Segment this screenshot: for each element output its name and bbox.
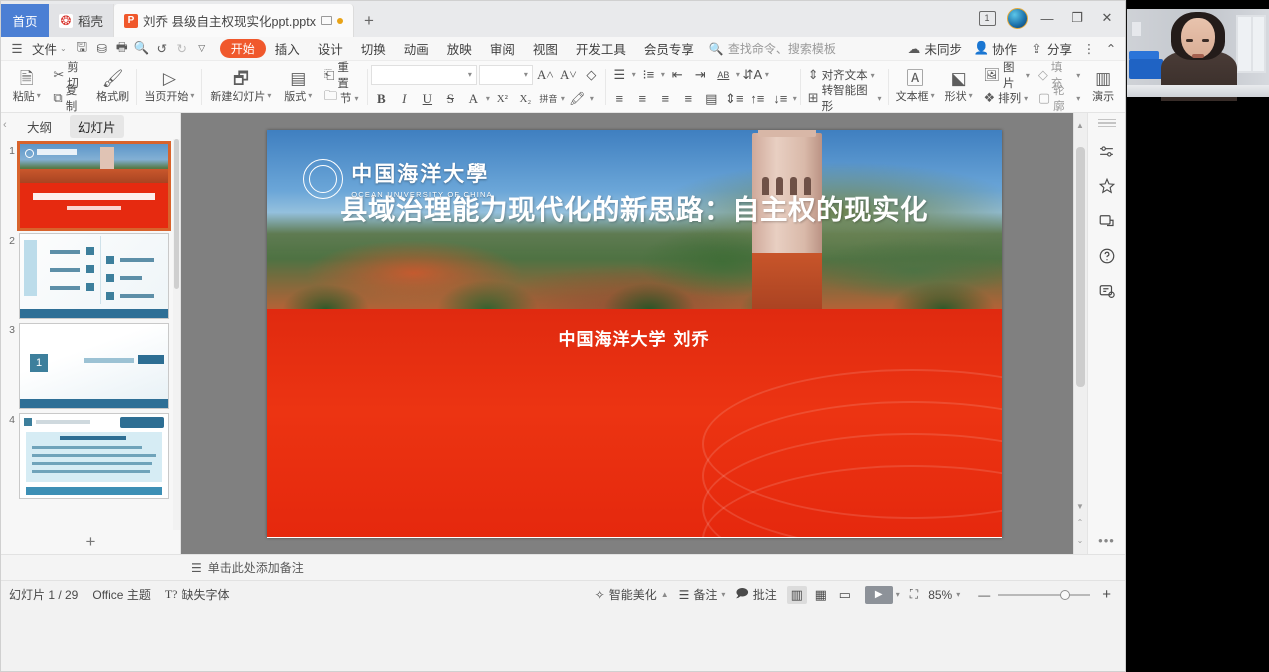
cut-icon: ✂ — [53, 67, 64, 83]
theme-name[interactable]: Office 主题 — [92, 586, 150, 603]
text-direction-icon[interactable]: AB — [713, 64, 734, 85]
docer-icon: ❂ — [59, 14, 73, 28]
ribbon-group-font: ▾ ▾ A˄ A˅ ◇ B I — [371, 61, 602, 113]
canvas-scroll-thumb[interactable] — [1076, 147, 1085, 387]
section-icon: 🗀 — [324, 87, 337, 109]
tab-docer[interactable]: ❂ 稻壳 — [49, 4, 114, 37]
font-name-select[interactable]: ▾ — [371, 65, 477, 85]
thumbnail-item[interactable]: 4 — [1, 409, 180, 499]
menu-right-actions: ☁ 未同步 👤 协作 ⇪ 分享 ⋮ ⌃ — [901, 38, 1121, 60]
zoom-knob[interactable] — [1060, 590, 1070, 600]
thumbnail-2[interactable] — [19, 233, 169, 319]
shape-button[interactable]: ⬕ 形状▾ — [938, 63, 980, 111]
arrange-icon: ❖ — [983, 90, 995, 106]
bullets-icon[interactable]: ☰ — [609, 64, 630, 85]
pinyin-guide-button[interactable]: 拼音 — [538, 88, 559, 109]
format-painter-button[interactable]: 🖌 格式刷 — [92, 63, 134, 111]
tab-home-label: 首页 — [12, 11, 37, 30]
fit-to-window-button[interactable]: ⛶ — [910, 587, 918, 602]
ribbon-group-paragraph: ☰▾ ⁝≡▾ ⇤ ⇥ AB▾ ⇵A▾ ≡ ≡ ≡ ≡ ▤ ⇕≡ — [609, 61, 797, 113]
file-menu[interactable]: 文件 ⌄ — [27, 38, 72, 60]
thumbnail-item[interactable]: 1 — [1, 139, 180, 229]
search-input[interactable]: 查找命令、搜索模板 — [728, 40, 836, 57]
window-controls: 1 — ❐ ✕ — [973, 5, 1121, 31]
smartart-icon: ⊞ — [808, 90, 819, 106]
slide-canvas[interactable]: 中国海洋大學 OCEAN UNIVERSITY OF CHINA 县域治理能力现… — [181, 113, 1087, 554]
missing-font-icon: T? — [165, 587, 178, 602]
ribbon-group-text-align: ⇕ 对齐文本▾ ⊞ 转智能图形▾ — [804, 61, 886, 113]
view-switcher: ▥ ▦ ▭ — [787, 586, 855, 604]
section-button[interactable]: 🗀 节 ▾ — [320, 88, 364, 109]
smart-beautify-button[interactable]: ✧ 智能美化 ▲ — [595, 586, 669, 603]
highlight-icon[interactable]: 🖍 — [567, 88, 588, 109]
add-slide-button[interactable]: + — [1, 530, 180, 554]
maximize-icon: ❐ — [1071, 10, 1083, 26]
ribbon-tab-animation[interactable]: 动画 — [395, 38, 438, 59]
right-rail: ••• — [1087, 113, 1125, 554]
rail-more-dots[interactable]: ••• — [1098, 533, 1115, 548]
collaborate-icon: 👤 — [974, 39, 989, 59]
ribbon-group-slideshow: ▷ 当页开始 ▾ — [140, 61, 198, 113]
logo-chinese: 中国海洋大學 — [351, 158, 493, 188]
paste-icon: 🗎 — [20, 70, 34, 87]
trees-layer — [267, 237, 1002, 309]
zoom-track[interactable] — [998, 594, 1090, 596]
ribbon-tab-review[interactable]: 审阅 — [481, 38, 524, 59]
undo-icon[interactable]: ↺ — [152, 39, 172, 59]
user-avatar[interactable] — [1003, 5, 1031, 31]
zoom-in-button[interactable]: + — [1090, 586, 1117, 603]
blue-storage-box — [1129, 59, 1163, 79]
present-button[interactable]: ▥ 演示 — [1084, 63, 1122, 111]
minimize-button[interactable]: — — [1033, 5, 1061, 31]
ribbon-group-slides: 🗗 新建幻灯片 ▾ ▤ 版式 ▾ ⎗ 重置 🗀 — [205, 61, 364, 113]
settings-sliders-icon[interactable] — [1096, 140, 1118, 162]
customize-qat-icon[interactable]: ▽ — [192, 39, 212, 59]
chevron-down-icon: ⌄ — [60, 44, 67, 53]
prev-slide-icon[interactable]: ⌃ — [1075, 516, 1085, 528]
ribbon-tab-devtools[interactable]: 开发工具 — [567, 38, 635, 59]
ribbon-group-clipboard: 🗎 粘贴 ▾ ✂ 剪切 ⧉ 复制 🖌 格式刷 — [4, 61, 133, 113]
close-icon: ✕ — [1102, 10, 1113, 26]
close-button[interactable]: ✕ — [1093, 5, 1121, 31]
multi-window-badge[interactable]: 1 — [973, 5, 1001, 31]
thumbnail-1[interactable] — [19, 143, 169, 229]
screen-root: 首页 ❂ 稻壳 P 刘乔 县级自主权现实化ppt.pptx + 1 — [0, 0, 1269, 672]
canvas-scrollbar[interactable]: ▲ ▼ ⌃ ⌄ — [1073, 113, 1087, 554]
status-bar: 幻灯片 1 / 29 Office 主题 T? 缺失字体 ✧ 智能美化 ▲ ☰ … — [1, 580, 1125, 608]
scrollbar-thumb[interactable] — [174, 139, 179, 289]
hamburger-icon[interactable]: ☰ — [7, 39, 27, 59]
slide-sorter-view-icon[interactable]: ▦ — [811, 586, 831, 604]
editor-body: ‹ 大纲 幻灯片 1 — [1, 113, 1125, 554]
scroll-down-icon[interactable]: ▼ — [1075, 500, 1085, 512]
arrange-button[interactable]: ❖ 排列▾ — [979, 88, 1033, 109]
ribbon-tab-insert[interactable]: 插入 — [266, 38, 309, 59]
chevron-up-icon[interactable]: ⌃ — [1101, 39, 1121, 59]
thumbnail-4[interactable] — [19, 413, 169, 499]
align-right-icon[interactable]: ≡ — [655, 88, 676, 109]
bold-button[interactable]: B — [371, 88, 392, 109]
title-bar: 首页 ❂ 稻壳 P 刘乔 县级自主权现实化ppt.pptx + 1 — [1, 1, 1125, 37]
normal-view-icon[interactable]: ▥ — [787, 586, 807, 604]
text-box-button[interactable]: 🄰 文本框▾ — [892, 63, 937, 111]
reset-icon: ⎗ — [324, 67, 334, 83]
pptx-icon: P — [124, 14, 138, 28]
ribbon-tab-view[interactable]: 视图 — [524, 38, 567, 59]
distribute-icon[interactable]: ▤ — [701, 88, 722, 109]
ribbon-tab-start[interactable]: 开始 — [220, 39, 266, 58]
shape-icon: ⬕ — [951, 70, 967, 87]
line-spacing-icon[interactable]: ⇕≡ — [724, 88, 745, 109]
slide-1[interactable]: 中国海洋大學 OCEAN UNIVERSITY OF CHINA 县域治理能力现… — [267, 130, 1002, 538]
logo-english: OCEAN UNIVERSITY OF CHINA — [351, 190, 493, 199]
clear-format-icon[interactable]: ◇ — [581, 64, 602, 85]
ribbon-tab-member[interactable]: 会员专享 — [635, 38, 703, 59]
tab-restore-icon[interactable] — [321, 16, 332, 25]
layout-button[interactable]: ▤ 版式 ▾ — [277, 63, 320, 111]
ribbon-group-drawing: 🄰 文本框▾ ⬕ 形状▾ 🖼 图片▾ ❖ 排列▾ — [892, 61, 1122, 113]
present-icon: ▥ — [1095, 70, 1111, 87]
font-color-caret-icon[interactable]: ▾ — [486, 94, 490, 103]
new-tab-label: + — [364, 11, 374, 31]
beautify-icon: ✧ — [595, 588, 605, 602]
thumbnail-item[interactable]: 2 — [1, 229, 180, 319]
share-button[interactable]: ⇪ 分享 — [1024, 38, 1077, 60]
tab-home[interactable]: 首页 — [1, 4, 49, 37]
wall-picture — [1131, 21, 1142, 37]
unsaved-dot-icon — [337, 18, 343, 24]
fit-to-window-icon: ⛶ — [910, 587, 918, 602]
slide-counter: 幻灯片 1 / 29 — [9, 586, 78, 603]
notes-toggle-button[interactable]: ☰ 备注 ▾ — [679, 586, 726, 603]
thumbnails-scrollbar[interactable] — [173, 139, 180, 532]
highlight-caret-icon[interactable]: ▾ — [590, 94, 594, 103]
notes-bar[interactable]: ☰ 单击此处添加备注 — [1, 554, 1125, 580]
file-menu-label: 文件 — [32, 39, 57, 58]
tab-docer-label: 稻壳 — [78, 11, 103, 30]
thumbnail-3[interactable]: 1 — [19, 323, 169, 409]
font-color-button[interactable]: A — [463, 88, 484, 109]
tab-slides[interactable]: 幻灯片 — [70, 115, 124, 138]
search-icon: 🔍 — [709, 42, 724, 56]
scroll-up-icon[interactable]: ▲ — [1075, 119, 1085, 131]
slide-subtitle[interactable]: 中国海洋大学 刘乔 — [267, 325, 1002, 350]
justify-icon[interactable]: ≡ — [678, 88, 699, 109]
italic-button[interactable]: I — [394, 88, 415, 109]
tab-outline[interactable]: 大纲 — [19, 115, 60, 138]
search-box[interactable]: 🔍 查找命令、搜索模板 — [709, 40, 836, 57]
align-center-icon[interactable]: ≡ — [632, 88, 653, 109]
layout-icon: ▤ — [290, 70, 306, 87]
zoom-level[interactable]: 85%▾ — [928, 588, 960, 602]
new-slide-button[interactable]: 🗗 新建幻灯片 ▾ — [205, 63, 276, 111]
share-icon: ⇪ — [1029, 39, 1044, 59]
picture-icon: 🖼 — [983, 67, 1000, 83]
underline-button[interactable]: U — [417, 88, 438, 109]
ribbon-toolbar: 🗎 粘贴 ▾ ✂ 剪切 ⧉ 复制 🖌 格式刷 — [1, 61, 1125, 113]
play-circle-icon: ▷ — [163, 70, 176, 87]
shrink-font-icon[interactable]: A˅ — [558, 64, 579, 85]
sort-icon[interactable]: ⇵A — [742, 64, 763, 85]
space-after-icon[interactable]: ↓≡ — [770, 88, 791, 109]
more-vertical-icon[interactable]: ⋮ — [1079, 39, 1099, 59]
zoom-slider[interactable]: — + — [970, 586, 1117, 603]
superscript-button[interactable]: X² — [492, 88, 513, 109]
play-caret-icon[interactable]: ▾ — [896, 590, 900, 599]
menu-bar: ☰ 文件 ⌄ 🖫 ⛁ 🖶 🔍 ↺ ↻ ▽ 开始 插入 设计 切换 动画 — [1, 37, 1125, 61]
screen-share-icon[interactable] — [1096, 210, 1118, 232]
outline-icon: ▢ — [1038, 90, 1050, 106]
print-icon[interactable]: 🖶 — [112, 39, 132, 59]
status-right: ✧ 智能美化 ▲ ☰ 备注 ▾ 🗩 批注 ▥ ▦ ▭ — [595, 584, 1117, 605]
font-size-select[interactable]: ▾ — [479, 65, 533, 85]
collaborate-button[interactable]: 👤 协作 — [969, 38, 1022, 60]
ribbon-tab-design[interactable]: 设计 — [309, 38, 352, 59]
save-as-cloud-icon[interactable]: ⛁ — [92, 39, 112, 59]
thumbnail-item[interactable]: 3 1 — [1, 319, 180, 409]
start-from-current-button[interactable]: ▷ 当页开始 ▾ — [140, 63, 198, 111]
missing-font-status[interactable]: T? 缺失字体 — [165, 586, 230, 603]
ribbon-tab-transition[interactable]: 切换 — [352, 38, 395, 59]
tab-document-label: 刘乔 县级自主权现实化ppt.pptx — [143, 11, 316, 30]
copy-button[interactable]: ⧉ 复制 — [49, 88, 91, 109]
notes-icon: ☰ — [191, 561, 202, 575]
thumbnail-list[interactable]: 1 2 — [1, 139, 180, 554]
chevron-left-icon[interactable]: ‹ — [3, 119, 7, 131]
room-window — [1236, 15, 1266, 73]
magic-star-icon[interactable] — [1096, 175, 1118, 197]
print-preview-icon[interactable]: 🔍 — [132, 39, 152, 59]
rail-grip-icon[interactable] — [1098, 119, 1116, 127]
format-painter-icon: 🖌 — [102, 70, 124, 87]
university-logo: 中国海洋大學 OCEAN UNIVERSITY OF CHINA — [303, 158, 493, 199]
new-slide-icon: 🗗 — [233, 70, 249, 87]
wps-presentation-window: 首页 ❂ 稻壳 P 刘乔 县级自主权现实化ppt.pptx + 1 — [0, 0, 1126, 672]
sync-status[interactable]: ☁ 未同步 — [901, 38, 967, 60]
comment-button[interactable]: 🗩 批注 — [735, 584, 776, 605]
play-icon[interactable]: ▶ — [865, 586, 893, 604]
text-box-icon: 🄰 — [907, 70, 924, 87]
subscript-button[interactable]: X₂ — [515, 88, 536, 109]
panel-tabs: 大纲 幻灯片 — [1, 113, 180, 139]
maximize-button[interactable]: ❐ — [1063, 5, 1091, 31]
paste-button[interactable]: 🗎 粘贴 ▾ — [4, 63, 49, 111]
decrease-indent-icon[interactable]: ⇤ — [667, 64, 688, 85]
space-before-icon[interactable]: ↑≡ — [747, 88, 768, 109]
beautify-caret-icon[interactable]: ▲ — [661, 590, 669, 599]
seal-icon — [303, 159, 343, 199]
help-circle-icon[interactable] — [1096, 245, 1118, 267]
cloud-sync-icon: ☁ — [906, 39, 921, 59]
increase-indent-icon[interactable]: ⇥ — [690, 64, 711, 85]
slides-panel: ‹ 大纲 幻灯片 1 — [1, 113, 181, 554]
ribbon-tab-slideshow[interactable]: 放映 — [438, 38, 481, 59]
comment-icon: 🗩 — [735, 584, 748, 605]
tab-document[interactable]: P 刘乔 县级自主权现实化ppt.pptx — [114, 4, 354, 37]
tower-roof — [752, 253, 822, 309]
align-left-icon[interactable]: ≡ — [609, 88, 630, 109]
notes-placeholder[interactable]: 单击此处添加备注 — [208, 559, 304, 576]
redo-icon[interactable]: ↻ — [172, 39, 192, 59]
start-slideshow-group: ▶ ▾ — [865, 586, 900, 604]
pinyin-caret-icon[interactable]: ▾ — [561, 94, 565, 103]
webcam-video — [1127, 9, 1269, 97]
picture-button[interactable]: 🖼 图片▾ — [979, 65, 1033, 86]
zoom-out-button[interactable]: — — [970, 588, 998, 602]
numbering-icon[interactable]: ⁝≡ — [638, 64, 659, 85]
reading-view-icon[interactable]: ▭ — [835, 586, 855, 604]
webcam-overlay — [1126, 0, 1269, 160]
notes-toggle-icon: ☰ — [679, 588, 690, 602]
grow-font-icon[interactable]: A˄ — [535, 64, 556, 85]
align-text-icon: ⇕ — [808, 67, 819, 83]
feedback-icon[interactable] — [1096, 280, 1118, 302]
to-smartart-button[interactable]: ⊞ 转智能图形▾ — [804, 88, 886, 109]
fill-icon: ◇ — [1038, 67, 1048, 83]
copy-icon: ⧉ — [53, 90, 62, 106]
strikethrough-button[interactable]: S — [440, 88, 461, 109]
reset-button[interactable]: ⎗ 重置 — [320, 65, 364, 86]
new-tab-button[interactable]: + — [354, 4, 384, 37]
next-slide-icon[interactable]: ⌄ — [1075, 534, 1085, 546]
save-icon[interactable]: 🖫 — [72, 39, 92, 59]
minimize-icon: — — [1041, 11, 1054, 26]
outline-button[interactable]: ▢ 轮廓▾ — [1034, 88, 1084, 109]
